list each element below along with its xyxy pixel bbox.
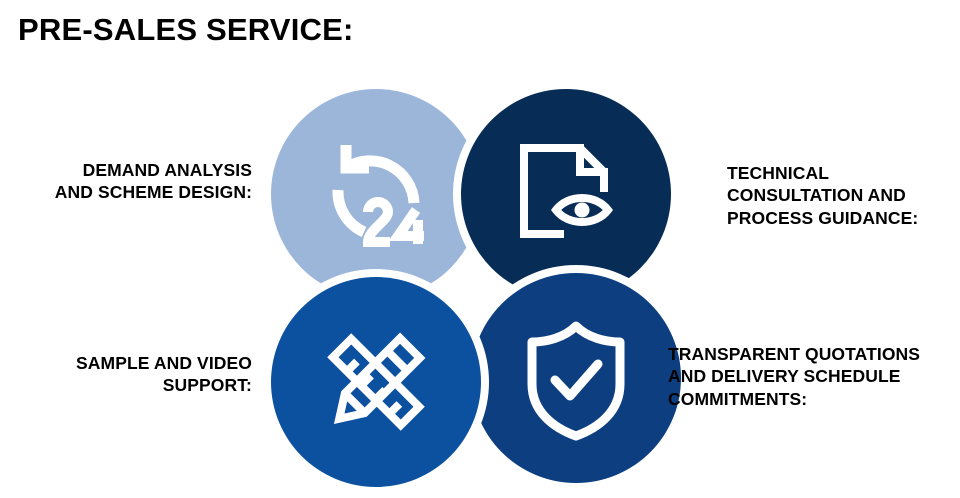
label-line: CONSULTATION AND (727, 184, 960, 206)
label-demand-analysis: DEMAND ANALYSIS AND SCHEME DESIGN: (0, 159, 252, 204)
label-sample-video-support: SAMPLE AND VIDEO SUPPORT: (0, 352, 252, 397)
label-line: TRANSPARENT QUOTATIONS (668, 343, 960, 365)
label-line: AND DELIVERY SCHEDULE (668, 365, 960, 387)
label-line: DEMAND ANALYSIS (0, 159, 252, 181)
circle-demand-analysis (271, 89, 481, 299)
label-line: COMMITMENTS: (668, 388, 960, 410)
label-transparent-quotations: TRANSPARENT QUOTATIONS AND DELIVERY SCHE… (668, 343, 960, 410)
label-line: TECHNICAL (727, 162, 960, 184)
four-circle-diagram: DEMAND ANALYSIS AND SCHEME DESIGN: TECHN… (0, 0, 960, 498)
label-line: PROCESS GUIDANCE: (727, 207, 960, 229)
circle-transparent-quotations (471, 273, 681, 483)
label-line: SUPPORT: (0, 374, 252, 396)
label-line: SAMPLE AND VIDEO (0, 352, 252, 374)
circles-graphic (0, 0, 960, 498)
label-technical-consultation: TECHNICAL CONSULTATION AND PROCESS GUIDA… (727, 162, 960, 229)
circle-sample-video-support (271, 277, 481, 487)
label-line: AND SCHEME DESIGN: (0, 181, 252, 203)
circle-technical-consultation (461, 89, 671, 299)
